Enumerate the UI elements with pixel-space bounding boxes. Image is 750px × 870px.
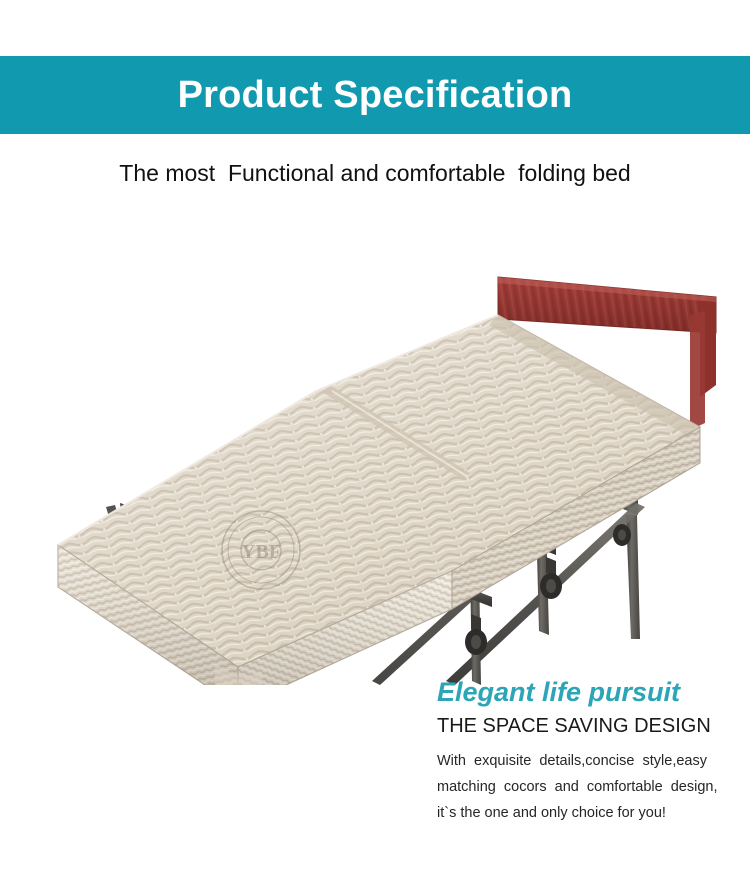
promo-description-line: it`s the one and only choice for you! <box>437 800 737 826</box>
caster-wheel <box>465 614 487 655</box>
promo-description-line: With exquisite details,concise style,eas… <box>437 748 737 774</box>
mattress <box>58 315 700 685</box>
product-image: YBF <box>0 215 750 685</box>
promo-headline: Elegant life pursuit <box>437 678 737 708</box>
caster-wheel <box>613 524 631 546</box>
promo-subheadline: THE SPACE SAVING DESIGN <box>437 715 737 738</box>
watermark-text: YBF <box>241 541 281 563</box>
product-specification-banner: Product Specification <box>0 56 750 134</box>
promo-description: With exquisite details,concise style,eas… <box>437 748 737 826</box>
banner-title: Product Specification <box>178 76 573 114</box>
promo-description-line: matching cocors and comfortable design, <box>437 774 737 800</box>
product-subtitle: The most Functional and comfortable fold… <box>0 160 750 187</box>
promo-block: Elegant life pursuit THE SPACE SAVING DE… <box>437 678 737 826</box>
